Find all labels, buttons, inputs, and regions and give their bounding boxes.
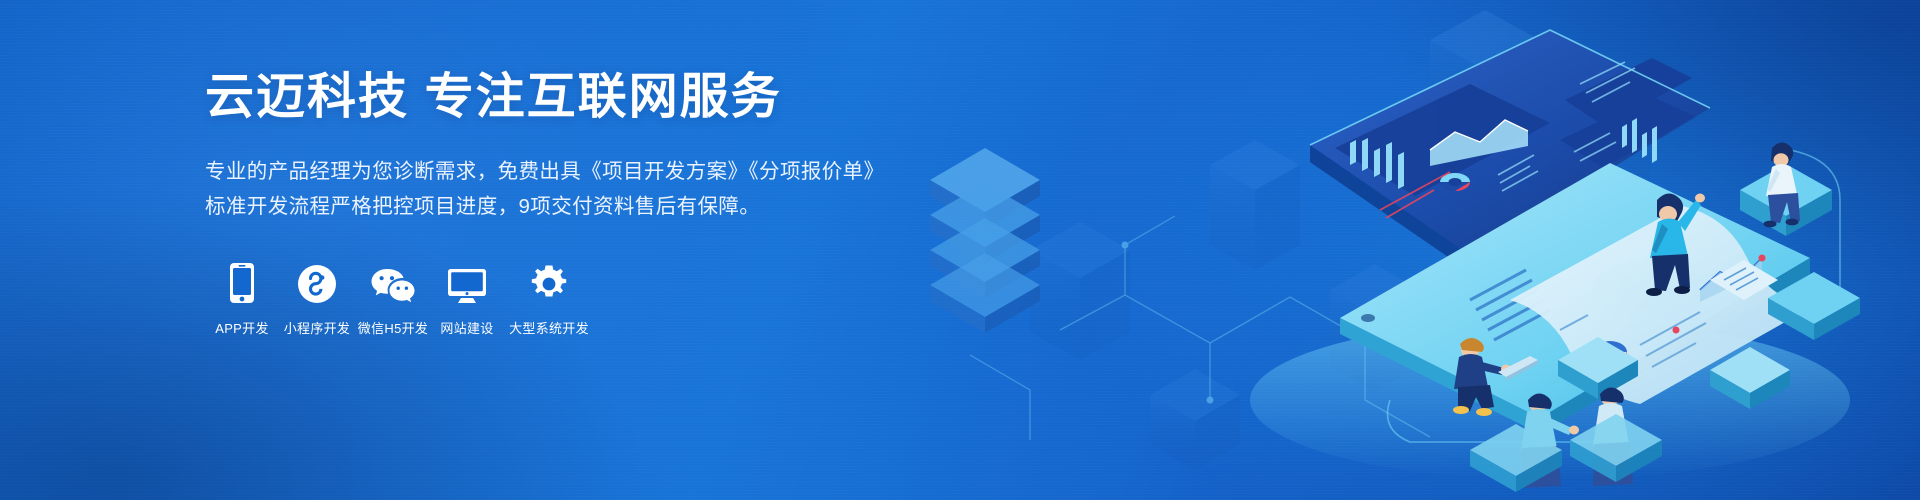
service-item-wechat[interactable]: 微信H5开发 [355, 260, 431, 337]
service-item-miniprogram[interactable]: 小程序开发 [279, 260, 355, 337]
page-title: 云迈科技 专注互联网服务 [205, 68, 925, 128]
banner-content: 云迈科技 专注互联网服务 专业的产品经理为您诊断需求，免费出具《项目开发方案》《… [205, 68, 925, 337]
banner-subtitle: 专业的产品经理为您诊断需求，免费出具《项目开发方案》《分项报价单》 标准开发流程… [205, 154, 925, 225]
hero-illustration [910, 0, 1920, 500]
mini-program-icon [297, 260, 337, 304]
service-item-website[interactable]: 网站建设 [431, 260, 503, 337]
gear-icon [529, 260, 569, 304]
service-list: APP开发 小程序开发 [205, 260, 925, 337]
service-item-app[interactable]: APP开发 [205, 260, 279, 337]
subtitle-line-1: 专业的产品经理为您诊断需求，免费出具《项目开发方案》《分项报价单》 [205, 154, 925, 189]
service-label-app: APP开发 [215, 318, 269, 337]
subtitle-line-2: 标准开发流程严格把控项目进度，9项交付资料售后有保障。 [205, 189, 925, 224]
service-label-system: 大型系统开发 [509, 318, 589, 337]
service-label-website: 网站建设 [440, 318, 493, 337]
server-stack [930, 148, 1040, 333]
service-item-system[interactable]: 大型系统开发 [503, 260, 595, 337]
service-label-miniprogram: 小程序开发 [284, 318, 351, 337]
hero-banner: 云迈科技 专注互联网服务 专业的产品经理为您诊断需求，免费出具《项目开发方案》《… [0, 0, 1920, 500]
mobile-phone-icon [229, 260, 255, 304]
wechat-icon [371, 260, 415, 304]
service-label-wechat: 微信H5开发 [358, 318, 428, 337]
monitor-icon [447, 260, 487, 304]
